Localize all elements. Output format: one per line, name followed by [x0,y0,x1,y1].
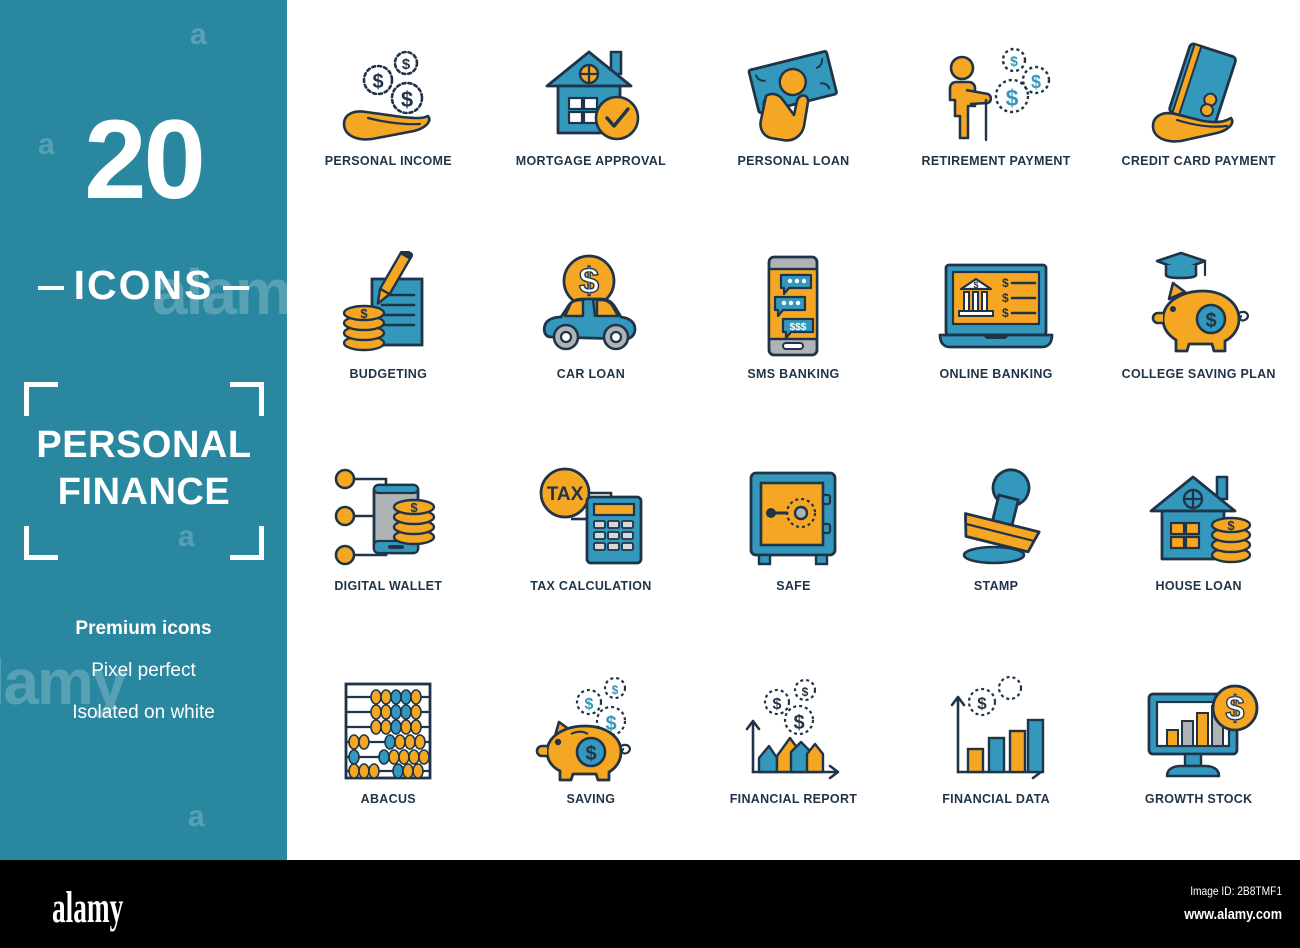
icon-caption: RETIREMENT PAYMENT [922,154,1071,168]
icon-cell-mortgage-approval[interactable]: MORTGAGE APPROVAL [490,10,693,223]
safe-vault-icon [733,463,853,573]
icon-caption: ABACUS [361,792,416,806]
svg-text:$: $ [584,696,593,713]
frame-corner-top-left [24,382,58,416]
svg-text:$: $ [974,280,979,290]
svg-text:$: $ [794,712,805,734]
monitor-bar-chart-coin-icon: $ [1139,676,1259,786]
icon-grid: $ $ $ PERSONAL INCOME [287,0,1300,860]
poster-title: PERSONAL FINANCE [24,422,264,516]
icon-caption: CREDIT CARD PAYMENT [1122,154,1276,168]
feature-list: Premium icons Pixel perfect Isolated on … [0,608,287,734]
icon-caption: PERSONAL LOAN [737,154,849,168]
poster-canvas: a a alamy a alamy a 20 ICONS PERSONAL FI… [0,0,1300,948]
watermark-a: a [188,800,205,834]
car-dollar-coin-icon: $ [531,251,651,361]
house-check-icon [531,38,651,148]
icon-caption: BUDGETING [349,367,427,381]
svg-text:$: $ [1002,306,1009,320]
icon-cell-credit-card-payment[interactable]: CREDIT CARD PAYMENT [1097,10,1300,223]
hand-banknote-icon [733,38,853,148]
icon-cell-financial-data[interactable]: $ FINANCIAL DATA [895,648,1098,861]
bar-chart-coin-icon: $ [936,676,1056,786]
alamy-url-text[interactable]: www.alamy.com [1184,906,1282,923]
svg-text:$: $ [977,694,987,713]
icon-cell-growth-stock[interactable]: $ GROWTH STOCK [1097,648,1300,861]
icon-cell-house-loan[interactable]: $ HOUSE LOAN [1097,435,1300,648]
icon-count-label-row: ICONS [0,262,287,309]
icon-caption: GROWTH STOCK [1145,792,1253,806]
area-chart-coins-icon: $ $ $ [733,676,853,786]
piggy-bank-graduation-cap-icon: $ [1139,251,1259,361]
svg-text:$: $ [401,87,413,112]
icon-cell-safe[interactable]: SAFE [692,435,895,648]
icon-cell-digital-wallet[interactable]: $ DIGITAL WALLET [287,435,490,648]
document-pen-coins-icon: $ [328,251,448,361]
icon-caption: STAMP [974,579,1018,593]
icon-cell-abacus[interactable]: ABACUS [287,648,490,861]
elderly-person-coins-icon: $ $ $ [936,38,1056,148]
alamy-logo: alamy [52,882,123,933]
svg-text:$: $ [1031,72,1041,92]
icon-cell-financial-report[interactable]: $ $ $ FINANCIAL REPORT [692,648,895,861]
svg-text:$: $ [579,260,599,301]
icon-caption: SAVING [566,792,615,806]
svg-text:TAX: TAX [547,484,584,505]
image-id-text: Image ID: 2B8TMF1 [1190,884,1282,898]
icon-caption: COLLEGE SAVING PLAN [1122,367,1276,381]
icon-cell-online-banking[interactable]: $ $$$ ONLINE BANKING [895,223,1098,436]
poster-title-line-1: PERSONAL [24,422,264,469]
poster-title-line-2: FINANCE [24,469,264,516]
icon-caption: CAR LOAN [557,367,625,381]
icon-caption: MORTGAGE APPROVAL [516,154,666,168]
footer-bar: alamy Image ID: 2B8TMF1 www.alamy.com [0,860,1300,948]
icon-cell-budgeting[interactable]: $ BUDGETING [287,223,490,436]
watermark-a: a [190,18,207,52]
title-frame: PERSONAL FINANCE [24,382,264,560]
icon-cell-car-loan[interactable]: $ CAR LOAN [490,223,693,436]
svg-text:$: $ [1227,518,1235,533]
icon-caption: SMS BANKING [747,367,839,381]
icon-cell-tax-calculation[interactable]: TAX TAX CALCULATION [490,435,693,648]
svg-text:$: $ [1225,690,1244,728]
svg-text:$: $ [612,683,619,697]
piggy-bank-coins-icon: $ $ $ $ [531,676,651,786]
svg-text:$: $ [1006,85,1019,111]
svg-text:$: $ [1002,276,1009,290]
icon-cell-college-saving-plan[interactable]: $ COLLEGE SAVING PLAN [1097,223,1300,436]
icon-cell-personal-income[interactable]: $ $ $ PERSONAL INCOME [287,10,490,223]
svg-text:$: $ [411,500,419,515]
frame-corner-bottom-right [230,526,264,560]
svg-text:$: $ [585,743,596,765]
sidebar-panel: a a alamy a alamy a 20 ICONS PERSONAL FI… [0,0,287,860]
svg-text:$: $ [1002,291,1009,305]
rubber-stamp-icon [936,463,1056,573]
icon-caption: DIGITAL WALLET [334,579,442,593]
frame-corner-bottom-left [24,526,58,560]
hand-with-coins-icon: $ $ $ [328,38,448,148]
icon-count: 20 [0,108,287,212]
feature-item-1: Premium icons [0,608,287,650]
phone-chat-bubbles-icon: $$$ [733,251,853,361]
icon-cell-personal-loan[interactable]: PERSONAL LOAN [692,10,895,223]
svg-text:$: $ [373,71,384,93]
svg-text:$: $ [361,306,369,321]
svg-text:$: $ [773,696,782,713]
icon-caption: ONLINE BANKING [939,367,1052,381]
laptop-bank-icon: $ $$$ [936,251,1056,361]
feature-item-2: Pixel perfect [0,650,287,692]
icon-cell-saving[interactable]: $ $ $ $ SAVING [490,648,693,861]
icon-caption: SAFE [776,579,811,593]
icon-count-label: ICONS [74,262,214,308]
abacus-icon [328,676,448,786]
dash-left [38,286,64,290]
frame-corner-top-right [230,382,264,416]
icon-caption: FINANCIAL REPORT [730,792,858,806]
svg-text:$: $ [402,56,411,73]
icon-caption: FINANCIAL DATA [942,792,1050,806]
svg-text:$: $ [1010,53,1018,69]
hand-credit-card-icon [1139,38,1259,148]
icon-caption: TAX CALCULATION [530,579,651,593]
icon-cell-stamp[interactable]: STAMP [895,435,1098,648]
icon-caption: PERSONAL INCOME [325,154,452,168]
svg-text:$: $ [1205,310,1216,332]
icon-caption: HOUSE LOAN [1156,579,1242,593]
tax-calculator-icon: TAX [531,463,651,573]
dash-right [223,286,249,290]
house-coins-icon: $ [1139,463,1259,573]
phone-coins-nodes-icon: $ [328,463,448,573]
icon-cell-retirement-payment[interactable]: $ $ $ RETIREMENT PAYMENT [895,10,1098,223]
svg-text:$$$: $$$ [790,322,807,333]
icon-cell-sms-banking[interactable]: $$$ SMS BANKING [692,223,895,436]
svg-text:$: $ [802,685,809,699]
feature-item-3: Isolated on white [0,692,287,734]
